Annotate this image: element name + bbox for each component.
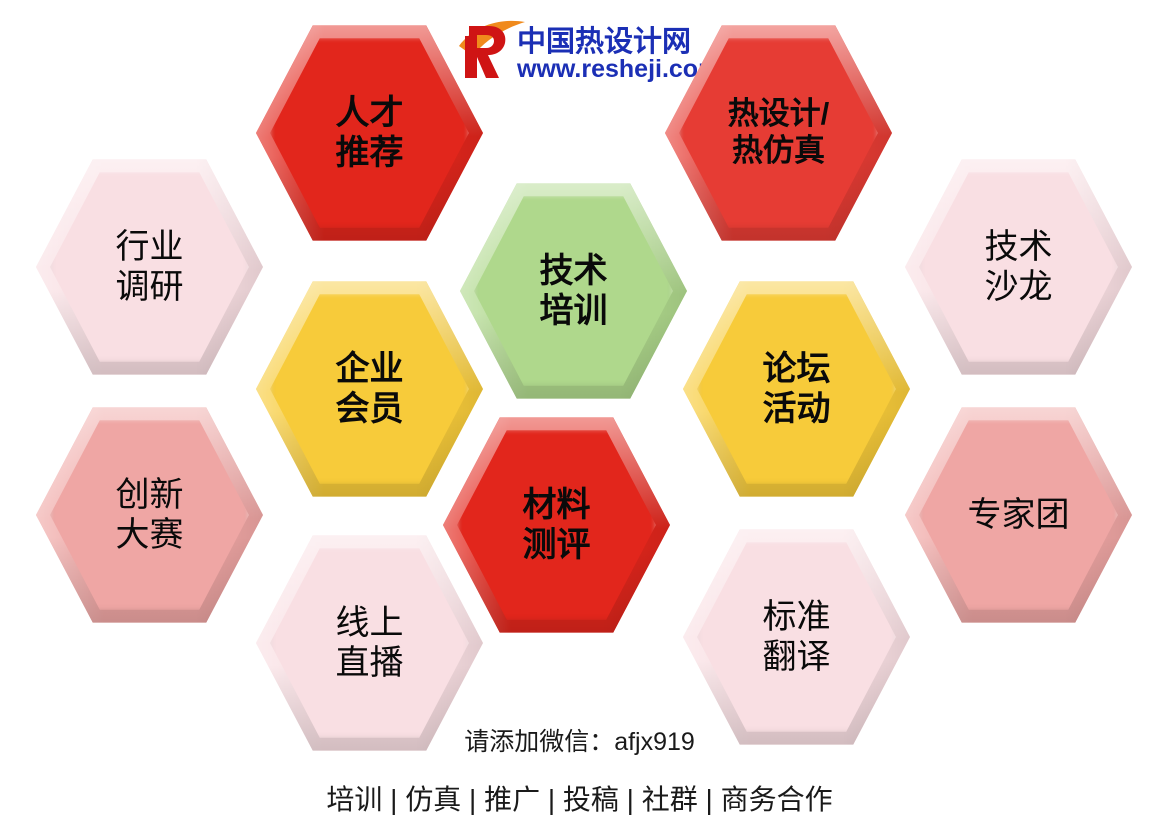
hex-tile-corporate-membership[interactable]: 企业 会员 <box>256 278 483 500</box>
hex-tile-material-evaluation[interactable]: 材料 测评 <box>443 414 670 636</box>
logo-site-url: www.resheji.com <box>517 55 720 84</box>
hex-label: 专家团 <box>958 495 1080 535</box>
wechat-contact-line: 请添加微信：afjx919 <box>0 722 1159 758</box>
services-list-line: 培训 | 仿真 | 推广 | 投稿 | 社群 | 商务合作 <box>0 778 1159 818</box>
hex-label: 企业 会员 <box>326 349 414 429</box>
hex-tile-online-live[interactable]: 线上 直播 <box>256 532 483 754</box>
hex-tile-standard-translation[interactable]: 标准 翻译 <box>683 526 910 748</box>
hex-tile-talent-recommendation[interactable]: 人才 推荐 <box>256 22 483 244</box>
hex-label: 标准 翻译 <box>753 597 841 677</box>
hex-label: 技术 沙龙 <box>975 227 1063 307</box>
hex-tile-industry-research[interactable]: 行业 调研 <box>36 156 263 378</box>
hex-tile-expert-team[interactable]: 专家团 <box>905 404 1132 626</box>
hex-tile-technical-training[interactable]: 技术 培训 <box>460 180 687 402</box>
hex-tile-forum-activities[interactable]: 论坛 活动 <box>683 278 910 500</box>
hex-label: 行业 调研 <box>106 227 194 307</box>
hex-label: 论坛 活动 <box>753 349 841 429</box>
hex-label: 材料 测评 <box>513 485 601 565</box>
logo-site-name: 中国热设计网 <box>517 18 691 60</box>
hex-tile-innovation-competition[interactable]: 创新 大赛 <box>36 404 263 626</box>
hex-tile-technical-salon[interactable]: 技术 沙龙 <box>905 156 1132 378</box>
site-logo: 中国热设计网 www.resheji.com <box>455 14 685 92</box>
hex-label: 线上 直播 <box>326 603 414 683</box>
hex-label: 人才 推荐 <box>326 93 414 173</box>
hex-label: 热设计/ 热仿真 <box>718 96 840 169</box>
infographic-canvas: 中国热设计网 www.resheji.com 人才 推荐热设计/ 热仿真行业 调… <box>0 0 1159 828</box>
hex-label: 技术 培训 <box>530 251 618 331</box>
hex-label: 创新 大赛 <box>106 475 194 555</box>
